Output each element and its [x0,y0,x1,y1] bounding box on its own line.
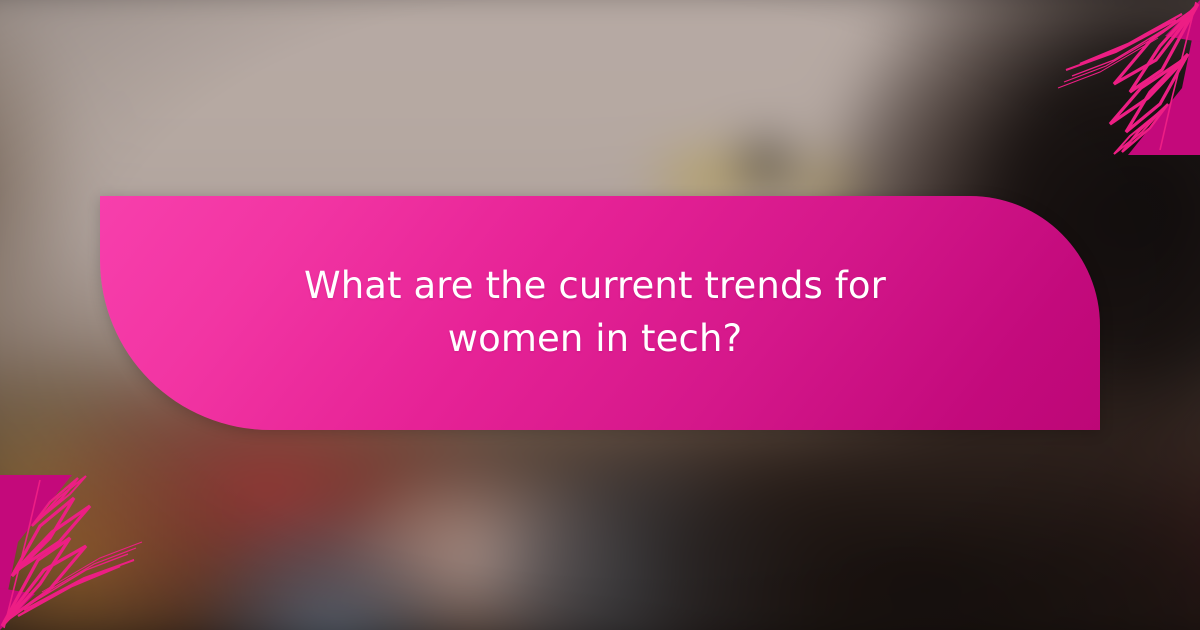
question-text: What are the current trends for women in… [240,260,950,365]
question-banner-card: What are the current trends for women in… [0,0,1200,630]
question-banner: What are the current trends for women in… [100,196,1100,430]
